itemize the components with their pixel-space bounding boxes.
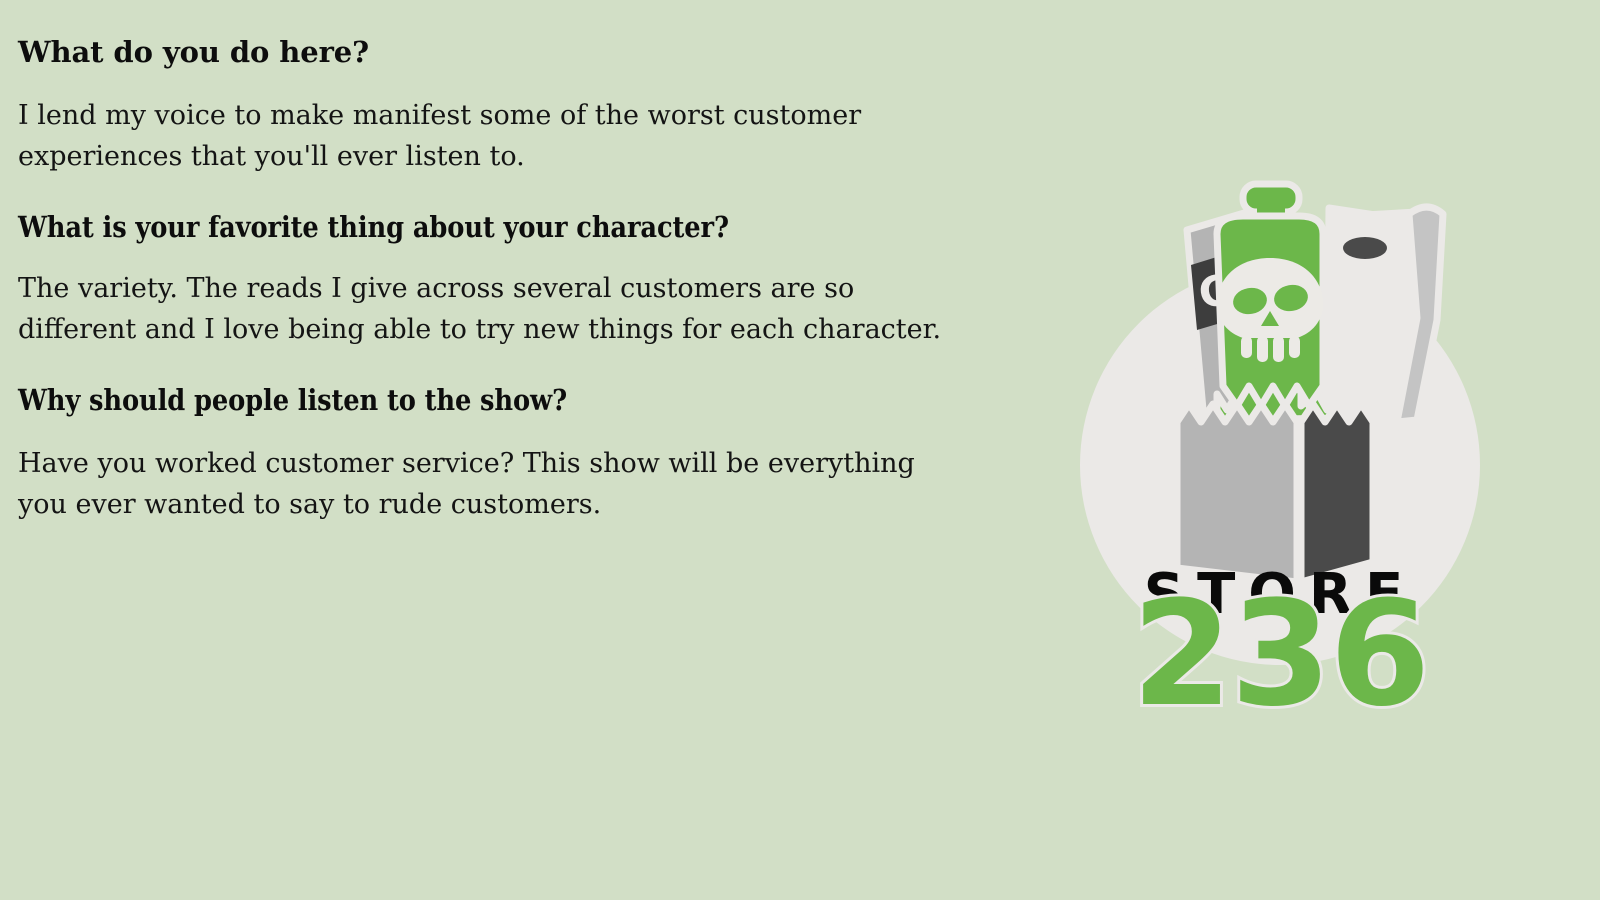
qa-block-1: What do you do here? I lend my voice to … bbox=[18, 38, 978, 177]
grocery-bag-icon bbox=[1177, 404, 1373, 582]
spacer bbox=[18, 177, 978, 213]
qa-block-3: Why should people listen to the show? Ha… bbox=[18, 386, 978, 525]
store-236-logo-svg: CH bbox=[1065, 170, 1495, 710]
interview-text-column: What do you do here? I lend my voice to … bbox=[18, 38, 978, 525]
store-236-logo: CH bbox=[1065, 170, 1495, 710]
answer-text-2: The variety. The reads I give across sev… bbox=[18, 268, 948, 350]
question-heading-3: Why should people listen to the show? bbox=[18, 386, 767, 415]
question-heading-2: What is your favorite thing about your c… bbox=[18, 213, 767, 242]
slide-canvas: What do you do here? I lend my voice to … bbox=[0, 0, 1600, 900]
bag-side-panel bbox=[1301, 404, 1373, 582]
answer-text-3: Have you worked customer service? This s… bbox=[18, 443, 948, 525]
question-heading-1: What do you do here? bbox=[18, 38, 778, 67]
spacer bbox=[18, 242, 978, 268]
answer-text-1: I lend my voice to make manifest some of… bbox=[18, 95, 948, 177]
logo-store-number: 236 bbox=[1132, 570, 1429, 710]
spacer bbox=[18, 67, 978, 95]
qa-block-2: What is your favorite thing about your c… bbox=[18, 213, 978, 350]
bag-front-panel bbox=[1177, 404, 1297, 582]
carton-logo-oval bbox=[1343, 237, 1387, 259]
spacer bbox=[18, 350, 978, 386]
spacer bbox=[18, 415, 978, 443]
